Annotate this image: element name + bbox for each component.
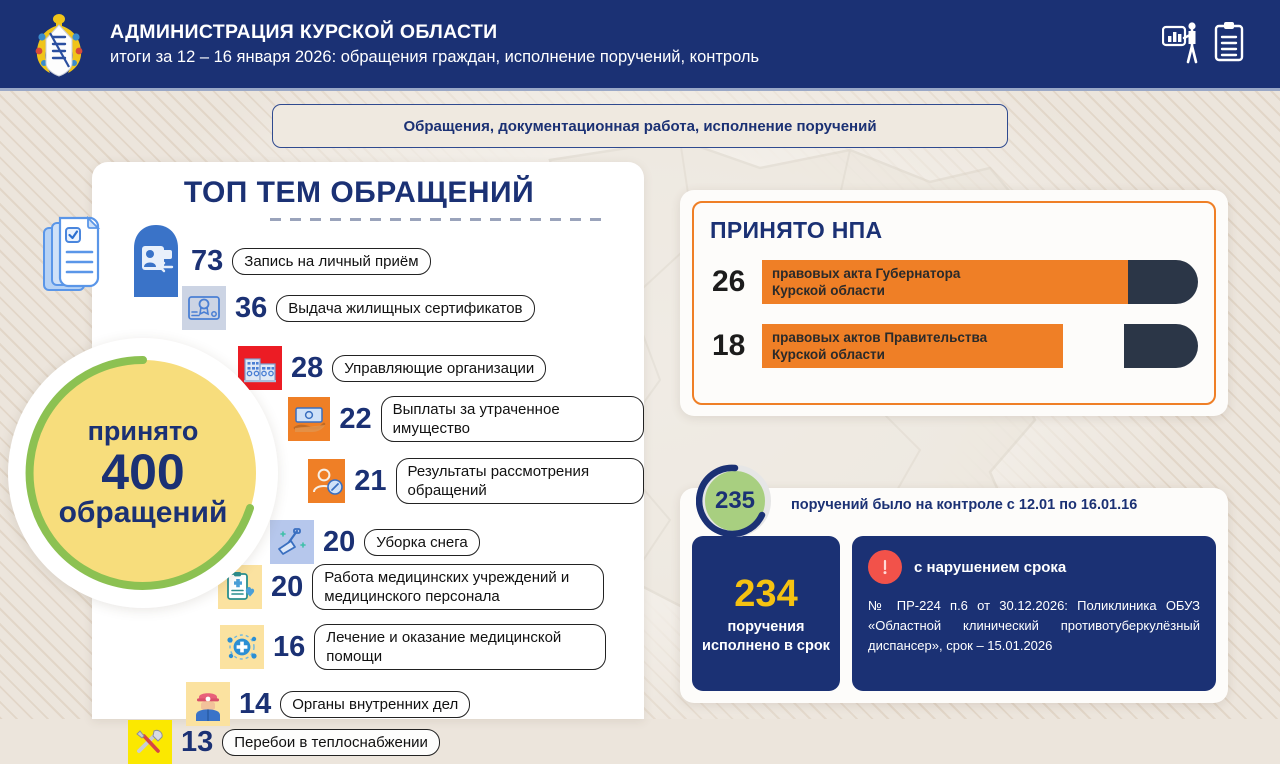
completed-label: поручения исполнено в срок: [702, 618, 830, 656]
topic-label: Уборка снега: [364, 529, 480, 556]
topic-count: 14: [239, 688, 271, 721]
presenter-chart-icon: [1162, 20, 1202, 64]
assignments-caption: поручений было на контроле с 12.01 по 16…: [791, 497, 1137, 513]
accepted-number: 400: [101, 447, 184, 497]
npa-row[interactable]: 26 правовых акта Губернатора Курской обл…: [710, 260, 1198, 304]
topic-label: Выдача жилищных сертификатов: [276, 295, 534, 322]
table-row[interactable]: 28 Управляющие организации: [238, 346, 546, 390]
topic-count: 73: [191, 245, 223, 278]
npa-title: ПРИНЯТО НПА: [710, 217, 1198, 244]
table-row[interactable]: 20 Уборка снега: [270, 520, 480, 564]
table-row[interactable]: 22 Выплаты за утраченное имущество: [288, 396, 644, 442]
table-row[interactable]: 13 Перебои в теплоснабжении: [128, 720, 440, 764]
documents-stack-icon: [42, 216, 106, 298]
npa-bar-cap: [1124, 324, 1198, 368]
accepted-requests-circle: принято 400 обращений: [8, 338, 278, 608]
certificate-icon: [182, 286, 226, 330]
overdue-title: с нарушением срока: [914, 559, 1066, 576]
topic-label: Лечение и оказание медицинской помощи: [314, 624, 606, 670]
npa-bar-fill: правовых акта Губернатора Курской област…: [762, 260, 1128, 304]
page-header: АДМИНИСТРАЦИЯ КУРСКОЙ ОБЛАСТИ итоги за 1…: [0, 0, 1280, 88]
header-icon-group: [1162, 20, 1244, 64]
section-banner-label: Обращения, документационная работа, испо…: [403, 118, 876, 135]
overdue-header: с нарушением срока: [868, 550, 1200, 584]
table-row[interactable]: 36 Выдача жилищных сертификатов: [182, 286, 535, 330]
topic-count: 20: [323, 526, 355, 559]
npa-card: ПРИНЯТО НПА 26 правовых акта Губернатора…: [680, 190, 1228, 416]
topic-count: 13: [181, 726, 213, 759]
header-divider: [0, 88, 1280, 91]
top-topics-title: ТОП ТЕМ ОБРАЩЕНИЙ: [92, 176, 626, 210]
npa-label-line1: правовых акта Губернатора: [772, 265, 1128, 282]
npa-label-line2: Курской области: [772, 282, 1128, 299]
personal-appointment-icon: [130, 222, 182, 300]
page-title: АДМИНИСТРАЦИЯ КУРСКОЙ ОБЛАСТИ: [110, 19, 759, 45]
npa-bar-cap: [1124, 260, 1198, 304]
npa-label-line2: Курской области: [772, 346, 1063, 363]
payment-hand-icon: [288, 397, 330, 441]
topic-count: 16: [273, 631, 305, 664]
topic-count: 28: [291, 352, 323, 385]
topic-label: Выплаты за утраченное имущество: [381, 396, 644, 442]
tools-icon: [128, 720, 172, 764]
npa-bar-track: правовых акта Губернатора Курской област…: [762, 260, 1198, 304]
user-review-icon: [308, 459, 345, 503]
section-banner: Обращения, документационная работа, испо…: [272, 104, 1008, 148]
npa-bar-track: правовых актов Правительства Курской обл…: [762, 324, 1198, 368]
topic-label: Органы внутренних дел: [280, 691, 470, 718]
completed-count: 234: [734, 572, 797, 616]
npa-count: 18: [710, 329, 762, 363]
npa-card-inner: ПРИНЯТО НПА 26 правовых акта Губернатора…: [692, 201, 1216, 405]
page-subtitle: итоги за 12 – 16 января 2026: обращения …: [110, 45, 759, 70]
assignments-donut-value: 235: [696, 462, 774, 540]
topic-count: 21: [354, 465, 386, 498]
npa-row[interactable]: 18 правовых актов Правительства Курской …: [710, 324, 1198, 368]
accepted-word-top: принято: [88, 418, 199, 445]
clipboard-icon: [1214, 20, 1244, 64]
accepted-word-bottom: обращений: [59, 498, 228, 528]
kursk-coat-of-arms-icon: [28, 11, 90, 77]
topic-label: Работа медицинских учреждений и медицинс…: [312, 564, 604, 610]
header-text-block: АДМИНИСТРАЦИЯ КУРСКОЙ ОБЛАСТИ итоги за 1…: [110, 19, 759, 70]
topic-count: 36: [235, 292, 267, 325]
topic-count: 22: [339, 403, 371, 436]
npa-bar-fill: правовых актов Правительства Курской обл…: [762, 324, 1063, 368]
topic-label: Запись на личный приём: [232, 248, 430, 275]
topic-label: Результаты рассмотрения обращений: [396, 458, 644, 504]
topic-label: Управляющие организации: [332, 355, 546, 382]
title-dashed-underline: [270, 218, 610, 221]
overdue-detail: № ПР-224 п.6 от 30.12.2026: Поликлиника …: [868, 596, 1200, 656]
assignments-body: 234 поручения исполнено в срок с нарушен…: [692, 536, 1216, 691]
exclamation-icon: [868, 550, 902, 584]
table-row[interactable]: 16 Лечение и оказание медицинской помощи: [220, 624, 606, 670]
accepted-circle-text: принято 400 обращений: [8, 338, 278, 608]
medical-cross-icon: [220, 625, 264, 669]
overdue-box: с нарушением срока № ПР-224 п.6 от 30.12…: [852, 536, 1216, 691]
completed-on-time-box: 234 поручения исполнено в срок: [692, 536, 840, 691]
npa-label-line1: правовых актов Правительства: [772, 329, 1063, 346]
table-row[interactable]: 21 Результаты рассмотрения обращений: [308, 458, 644, 504]
npa-count: 26: [710, 265, 762, 299]
topic-label: Перебои в теплоснабжении: [222, 729, 440, 756]
